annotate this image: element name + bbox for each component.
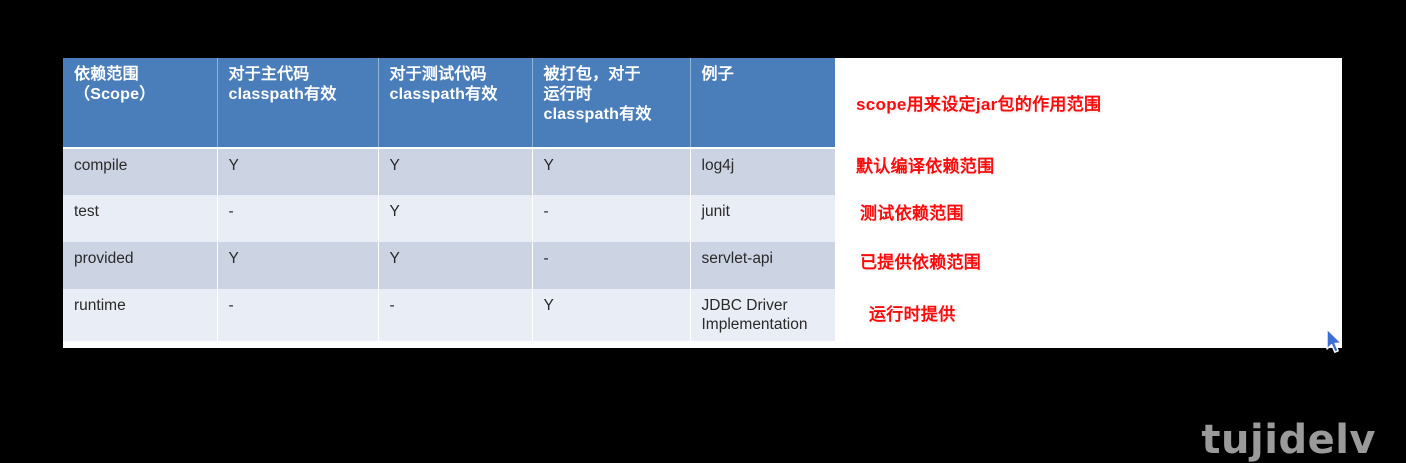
dependency-scope-table: 依赖范围 （Scope） 对于主代码 classpath有效 对于测试代码 cl… bbox=[63, 58, 835, 341]
column-header-runtime-line2: 运行时 bbox=[544, 85, 681, 105]
column-header-scope-line2: （Scope） bbox=[74, 85, 208, 105]
cell-runtime-classpath: - bbox=[532, 242, 690, 289]
cell-example: log4j bbox=[690, 148, 835, 195]
column-header-test-line1: 对于测试代码 bbox=[390, 65, 523, 85]
cell-example: JDBC Driver Implementation bbox=[690, 289, 835, 341]
column-header-scope-line1: 依赖范围 bbox=[74, 65, 208, 85]
cell-scope: runtime bbox=[63, 289, 217, 341]
annotation-runtime: 运行时提供 bbox=[869, 300, 956, 325]
cell-main-classpath: - bbox=[217, 289, 378, 341]
cell-scope: test bbox=[63, 195, 217, 242]
cell-test-classpath: - bbox=[378, 289, 532, 341]
cell-test-classpath: Y bbox=[378, 148, 532, 195]
column-header-main-classpath: 对于主代码 classpath有效 bbox=[217, 58, 378, 148]
cell-example-line2: Implementation bbox=[702, 315, 827, 334]
cell-test-classpath: Y bbox=[378, 195, 532, 242]
cell-runtime-classpath: - bbox=[532, 195, 690, 242]
table-header: 依赖范围 （Scope） 对于主代码 classpath有效 对于测试代码 cl… bbox=[63, 58, 835, 148]
cell-scope: provided bbox=[63, 242, 217, 289]
column-header-test-line2: classpath有效 bbox=[390, 85, 523, 105]
column-header-runtime-line1: 被打包，对于 bbox=[544, 65, 681, 85]
cell-main-classpath: - bbox=[217, 195, 378, 242]
cell-main-classpath: Y bbox=[217, 242, 378, 289]
cell-example-line1: log4j bbox=[702, 156, 827, 175]
annotation-scope: scope用来设定jar包的作用范围 bbox=[856, 90, 1101, 115]
table-row: compile Y Y Y log4j bbox=[63, 148, 835, 195]
cell-example-line1: servlet-api bbox=[702, 249, 827, 268]
cell-example-line1: JDBC Driver bbox=[702, 296, 827, 315]
table-body: compile Y Y Y log4j test - Y - junit pro… bbox=[63, 148, 835, 341]
table-row: test - Y - junit bbox=[63, 195, 835, 242]
column-header-runtime-classpath: 被打包，对于 运行时 classpath有效 bbox=[532, 58, 690, 148]
cell-scope: compile bbox=[63, 148, 217, 195]
cell-example-line1: junit bbox=[702, 202, 827, 221]
annotation-test: 测试依赖范围 bbox=[860, 199, 964, 224]
table-header-row: 依赖范围 （Scope） 对于主代码 classpath有效 对于测试代码 cl… bbox=[63, 58, 835, 148]
table-row: provided Y Y - servlet-api bbox=[63, 242, 835, 289]
cell-runtime-classpath: Y bbox=[532, 289, 690, 341]
column-header-example: 例子 bbox=[690, 58, 835, 148]
column-header-runtime-line3: classpath有效 bbox=[544, 105, 681, 125]
column-header-test-classpath: 对于测试代码 classpath有效 bbox=[378, 58, 532, 148]
annotation-provided: 已提供依赖范围 bbox=[860, 248, 981, 273]
column-header-main-line2: classpath有效 bbox=[229, 85, 369, 105]
cell-test-classpath: Y bbox=[378, 242, 532, 289]
table-row: runtime - - Y JDBC Driver Implementation bbox=[63, 289, 835, 341]
column-header-scope: 依赖范围 （Scope） bbox=[63, 58, 217, 148]
cell-runtime-classpath: Y bbox=[532, 148, 690, 195]
cell-main-classpath: Y bbox=[217, 148, 378, 195]
annotation-compile: 默认编译依赖范围 bbox=[856, 152, 994, 177]
cell-example: junit bbox=[690, 195, 835, 242]
slide-canvas: 依赖范围 （Scope） 对于主代码 classpath有效 对于测试代码 cl… bbox=[63, 58, 1342, 348]
column-header-main-line1: 对于主代码 bbox=[229, 65, 369, 85]
watermark-text: tujidelv bbox=[1201, 417, 1376, 463]
cell-example: servlet-api bbox=[690, 242, 835, 289]
